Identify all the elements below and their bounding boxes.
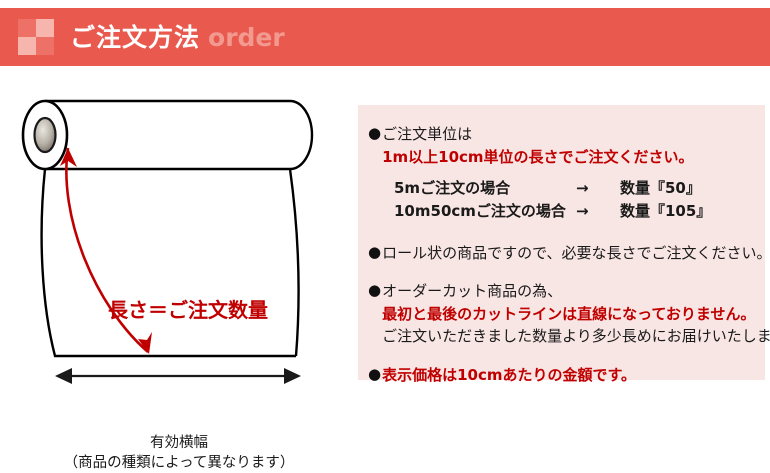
- note-line: ロール状の商品ですので、必要な長さでご注文ください。: [382, 242, 770, 265]
- note-block-price-unit: ● 表示価格は10cmあたりの金額です。: [368, 364, 751, 387]
- length-label: 長さ＝ご注文数量: [108, 294, 268, 323]
- arrow-right-icon: →: [576, 200, 620, 223]
- note-body: 表示価格は10cmあたりの金額です。: [382, 364, 751, 387]
- roll-diagram: 長さ＝ご注文数量 有効横幅 （商品の種類によって異なります）: [0, 66, 358, 468]
- note-block-roll-product: ● ロール状の商品ですので、必要な長さでご注文ください。: [368, 242, 751, 265]
- bullet-icon: ●: [368, 123, 381, 145]
- note-body: オーダーカット商品の為、 最初と最後のカットラインは直線になっておりません。 ご…: [382, 280, 770, 348]
- example-case: 5mご注文の場合: [394, 177, 576, 200]
- example-row: 5mご注文の場合 → 数量『50』: [394, 177, 751, 200]
- order-examples: 5mご注文の場合 → 数量『50』 10m50cmご注文の場合 → 数量『105…: [394, 177, 751, 224]
- width-label-line1: 有効横幅: [0, 434, 358, 454]
- sheet-left-edge: [42, 169, 296, 356]
- order-notes-panel: ● ご注文単位は 1m以上10cm単位の長さでご注文ください。 5mご注文の場合…: [358, 105, 765, 380]
- note-block-order-unit: ● ご注文単位は 1m以上10cm単位の長さでご注文ください。: [368, 123, 751, 168]
- bullet-icon: ●: [368, 242, 381, 264]
- checkerboard-icon: [18, 19, 54, 55]
- page-root: ご注文方法 order: [0, 0, 770, 468]
- width-label-line2: （商品の種類によって異なります）: [0, 454, 358, 473]
- note-body: ロール状の商品ですので、必要な長さでご注文ください。: [382, 242, 770, 265]
- roll-body-outline: [45, 101, 312, 169]
- example-quantity: 数量『50』: [620, 177, 701, 200]
- width-arrow-head-left: [55, 368, 72, 384]
- note-line: ご注文単位は: [382, 123, 751, 146]
- note-line-highlight: 表示価格は10cmあたりの金額です。: [382, 364, 751, 387]
- note-line-highlight: 1m以上10cm単位の長さでご注文ください。: [382, 146, 751, 169]
- section-header: ご注文方法 order: [0, 8, 770, 66]
- example-quantity: 数量『105』: [620, 200, 711, 223]
- width-arrow-head-right: [284, 368, 301, 384]
- bullet-icon: ●: [368, 364, 381, 386]
- note-line: ご注文いただきました数量より多少長めにお届けいたします。: [382, 325, 770, 348]
- width-label: 有効横幅 （商品の種類によって異なります）: [0, 434, 358, 473]
- roll-diagram-svg: [0, 66, 358, 468]
- arrow-right-icon: →: [576, 177, 620, 200]
- roll-core-icon: [35, 118, 56, 152]
- page-subtitle: order: [208, 25, 285, 50]
- note-block-order-cut: ● オーダーカット商品の為、 最初と最後のカットラインは直線になっておりません。…: [368, 280, 751, 348]
- note-line-highlight: 最初と最後のカットラインは直線になっておりません。: [382, 303, 770, 326]
- page-title: ご注文方法: [70, 25, 200, 50]
- sheet-right-edge: [290, 169, 298, 356]
- note-body: ご注文単位は 1m以上10cm単位の長さでご注文ください。: [382, 123, 751, 168]
- note-line: オーダーカット商品の為、: [382, 280, 770, 303]
- bullet-icon: ●: [368, 280, 381, 302]
- example-row: 10m50cmご注文の場合 → 数量『105』: [394, 200, 751, 223]
- example-case: 10m50cmご注文の場合: [394, 200, 576, 223]
